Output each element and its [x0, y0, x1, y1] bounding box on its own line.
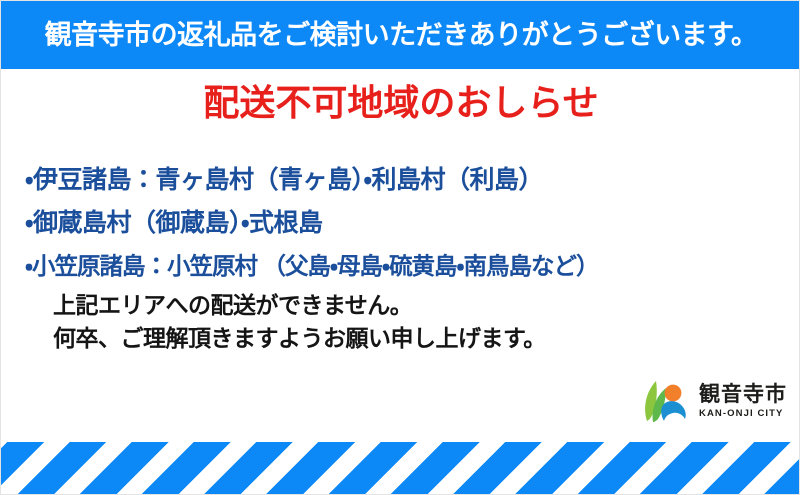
list-item: ・伊豆諸島：青ヶ島村（青ヶ島）・利島村（利島）: [25, 159, 785, 202]
shipping-exclusion-notice-poster: 観音寺市の返礼品をご検討いただきありがとうございます。 配送不可地域のおしらせ …: [0, 0, 800, 495]
notice-paragraph: 上記エリアへの配送ができません。 何卒、ご理解頂きますようお願い申し上げます。: [53, 289, 773, 355]
logo-wordmark: 観音寺市 KAN-ONJI CITY: [699, 384, 787, 419]
undeliverable-areas-list: ・伊豆諸島：青ヶ島村（青ヶ島）・利島村（利島） ・御蔵島村（御蔵島）・式根島 ・…: [25, 159, 785, 288]
header-banner: 観音寺市の返礼品をご検討いただきありがとうございます。: [1, 1, 800, 69]
logo-city-name-kanji: 観音寺市: [699, 384, 787, 407]
notice-line: 上記エリアへの配送ができません。: [53, 289, 773, 322]
notice-line: 何卒、ご理解頂きますようお願い申し上げます。: [53, 322, 773, 355]
kanonji-city-logo-mark-icon: [641, 375, 695, 429]
logo-city-name-roman: KAN-ONJI CITY: [699, 408, 787, 419]
header-banner-text: 観音寺市の返礼品をご検討いただきありがとうございます。: [45, 22, 758, 49]
list-item: ・小笠原諸島：小笠原村 （父島・母島・硫黄島・南鳥島など）: [25, 245, 785, 288]
list-item: ・御蔵島村（御蔵島）・式根島: [25, 202, 785, 245]
page-title-text: 配送不可地域のおしらせ: [1, 83, 800, 123]
page-title: 配送不可地域のおしらせ: [1, 83, 800, 123]
kanonji-city-logo: 観音寺市 KAN-ONJI CITY: [641, 373, 793, 431]
bottom-stripe-band: [1, 442, 800, 494]
